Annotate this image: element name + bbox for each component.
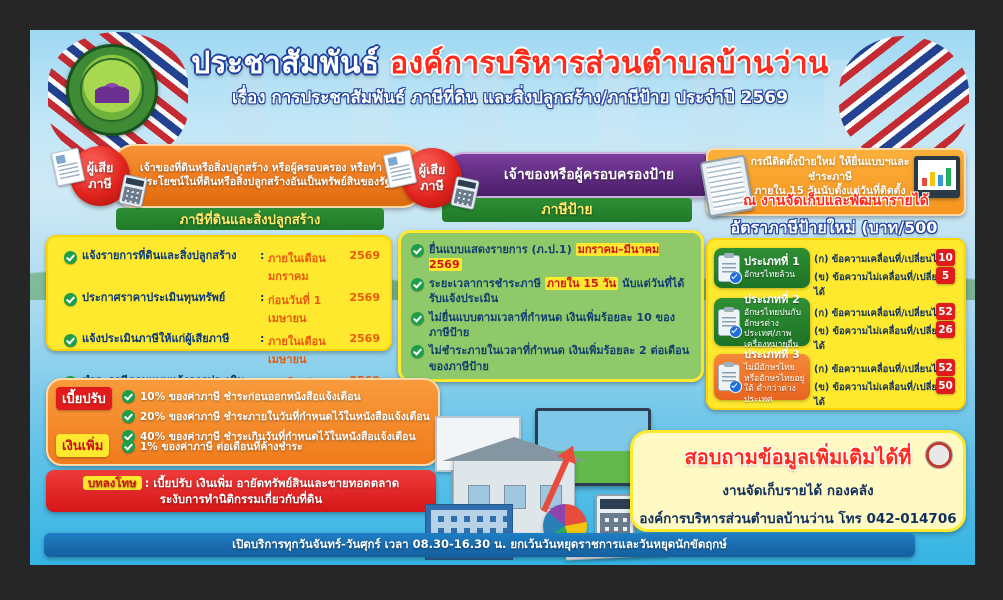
sign-rule-row: ยื่นแบบแสดงรายการ (ภ.ป.1) มกราคม–มีนาคม … [411,242,693,273]
penalty-fine-item: 10% ของค่าภาษี ชำระก่อนออกหนังสือแจ้งเตื… [140,388,361,405]
document-icon [383,149,417,188]
check-icon [411,345,424,358]
sanction-tag: บทลงโทษ [83,476,142,490]
check-icon [411,312,424,325]
new-sign-note-line1: กรณีติดตั้งป้ายใหม่ ให้ยื่นแบบฯและชำระภา… [742,155,918,184]
clipboard-check-icon [718,309,740,336]
sign-rule-highlight: ภายใน 15 วัน [545,277,618,290]
schedule-item-when: ภายในเดือน เมษายน [268,332,349,368]
chart-bars-icon [922,166,956,186]
check-badge-icon [729,325,742,338]
logo-inner-ring [80,58,144,122]
land-taxpayer-description: เจ้าของที่ดินหรือสิ่งปลูกสร้าง หรือผู้คร… [140,162,414,189]
logo-motif-icon [95,77,129,103]
sign-type-1-sub: อักษรไทยล้วน [744,270,795,280]
sign-type-2-row-a-value: 52 [936,303,955,320]
land-tax-category-bar: ภาษีที่ดินและสิ่งปลูกสร้าง [116,208,384,230]
contact-box: สอบถามข้อมูลเพิ่มเติมได้ที่ งานจัดเก็บรา… [630,430,966,532]
penalty-row: 1% ของค่าภาษี ต่อเดือนที่ค้างชำระ [122,438,430,455]
header-block: ประชาสัมพันธ์ องค์การบริหารส่วนตำบลบ้านว… [160,48,860,111]
service-hours-text: เปิดบริการทุกวันจันทร์-วันศุกร์ เวลา 08.… [232,536,727,554]
organization-logo [66,44,158,136]
poster-canvas: ประชาสัมพันธ์ องค์การบริหารส่วนตำบลบ้านว… [30,30,975,565]
land-tax-schedule-panel: แจ้งรายการที่ดินและสิ่งปลูกสร้าง : ภายใน… [46,235,392,351]
schedule-row: แจ้งประเมินภาษีให้แก่ผู้เสียภาษี : ภายใน… [64,332,380,368]
check-icon [122,440,135,453]
schedule-item-name: แจ้งรายการที่ดินและสิ่งปลูกสร้าง [82,249,260,264]
sign-type-3-card: ประเภทที่ 3 ไม่มีอักษรไทย หรืออักษรไทยอย… [714,354,810,400]
service-hours-bar: เปิดบริการทุกวันจันทร์-วันศุกร์ เวลา 08.… [44,533,915,557]
check-icon [411,244,424,257]
sign-rule-row: ไม่ชำระภายในเวลาที่กำหนด เงินเพิ่มร้อยละ… [411,343,693,374]
sign-tax-rules-list: ยื่นแบบแสดงรายการ (ภ.ป.1) มกราคม–มีนาคม … [411,242,693,377]
sign-taxpayer-badge: ผู้เสีย ภาษี [402,148,462,208]
check-icon [122,410,135,423]
check-badge-icon [729,380,742,393]
page-title-blue: ประชาสัมพันธ์ [191,46,390,81]
sign-badge-line1: ผู้เสีย [419,162,446,178]
penalty-row: 10% ของค่าภาษี ชำระก่อนออกหนังสือแจ้งเตื… [122,388,430,405]
sign-type-1-text: ประเภทที่ 1 อักษรไทยล้วน [744,255,800,280]
contact-heading: สอบถามข้อมูลเพิ่มเติมได้ที่ [633,441,963,473]
official-seal-icon [925,441,953,469]
schedule-item-year: 2569 [349,249,380,262]
schedule-row: แจ้งรายการที่ดินและสิ่งปลูกสร้าง : ภายใน… [64,249,380,285]
sign-rule-text: ไม่ยื่นแบบตามเวลาที่กำหนด เงินเพิ่มร้อยล… [429,310,693,341]
sign-type-3-text: ประเภทที่ 3 ไม่มีอักษรไทย หรืออักษรไทยอย… [744,348,810,405]
sign-rule-pre: ยื่นแบบแสดงรายการ (ภ.ป.1) [429,243,576,256]
sign-type-1-row-b-value: 5 [936,267,955,284]
sign-badge-line2: ภาษี [420,178,444,194]
sign-rule-row: ระยะเวลาการชำระภาษี ภายใน 15 วัน นับแต่ว… [411,276,693,307]
schedule-item-year: 2569 [349,291,380,304]
page-title: ประชาสัมพันธ์ องค์การบริหารส่วนตำบลบ้านว… [160,48,860,80]
penalty-surcharge-tag: เงินเพิ่ม [56,434,109,457]
sign-type-2-sub: อักษรไทยปนกับ อักษรต่างประเทศ/ภาพ เครื่อ… [744,308,801,350]
check-icon [122,390,135,403]
schedule-colon: : [260,291,268,304]
contact-line2: องค์การบริหารส่วนตำบลบ้านว่าน โทร 042-01… [633,507,963,529]
sign-type-1-heading: ประเภทที่ 1 [744,255,800,269]
sign-tax-rules-panel: ยื่นแบบแสดงรายการ (ภ.ป.1) มกราคม–มีนาคม … [398,230,704,382]
penalty-fine-tag: เบี้ยปรับ [56,387,112,410]
sign-rule-text: ไม่ชำระภายในเวลาที่กำหนด เงินเพิ่มร้อยละ… [429,343,693,374]
billboard-icon [435,416,521,472]
sign-type-3-row-b-value: 50 [936,377,955,394]
sign-type-2-heading: ประเภทที่ 2 [744,293,810,307]
check-icon [64,334,77,347]
penalty-fine-item: 20% ของค่าภาษี ชำระภายในวันที่กำหนดไว้ใน… [140,408,430,425]
sign-rule-row: ไม่ยื่นแบบตามเวลาที่กำหนด เงินเพิ่มร้อยล… [411,310,693,341]
clipboard-check-icon [718,364,740,391]
sanction-bar: บทลงโทษ: เบี้ยปรับ เงินเพิ่ม อายัดทรัพย์… [46,470,436,512]
land-taxpayer-badge: ผู้เสีย ภาษี [70,146,130,206]
land-taxpayer-description-pill: เจ้าของที่ดินหรือสิ่งปลูกสร้าง หรือผู้คร… [112,144,424,208]
schedule-item-when: ก่อนวันที่ 1 เมษายน [268,291,349,327]
check-icon [64,251,77,264]
penalty-surcharge-item: 1% ของค่าภาษี ต่อเดือนที่ค้างชำระ [140,438,303,455]
page-title-red: องค์การบริหารส่วนตำบลบ้านว่าน [390,46,829,81]
sign-type-1-row-a-value: 10 [936,249,955,266]
sign-rule-text: ยื่นแบบแสดงรายการ (ภ.ป.1) มกราคม–มีนาคม … [429,242,693,273]
sign-tax-category-bar: ภาษีป้าย [442,198,692,222]
sign-type-3-row-a-label: (ก) ข้อความเคลื่อนที่/เปลี่ยนได้ [814,362,943,377]
schedule-item-when: ภายในเดือน มกราคม [268,249,349,285]
land-badge-line2: ภาษี [88,176,112,192]
sign-type-2-row-a-label: (ก) ข้อความเคลื่อนที่/เปลี่ยนได้ [814,306,943,321]
schedule-colon: : [260,332,268,345]
schedule-item-name: แจ้งประเมินภาษีให้แก่ผู้เสียภาษี [82,332,260,347]
page-subtitle: เรื่อง การประชาสัมพันธ์ ภาษีที่ดิน และสิ… [160,84,860,111]
sign-type-3-sub: ไม่มีอักษรไทย หรืออักษรไทยอยู่ใต้ ต่ำกว่… [744,363,805,405]
sign-type-2-row-b-value: 26 [936,321,955,338]
sign-type-2-card: ประเภทที่ 2 อักษรไทยปนกับ อักษรต่างประเท… [714,298,810,346]
schedule-row: ประกาศราคาประเมินทุนทรัพย์ : ก่อนวันที่ … [64,291,380,327]
sign-rule-pre: ระยะเวลาการชำระภาษี [429,277,545,290]
sanction-text1: : เบี้ยปรับ เงินเพิ่ม อายัดทรัพย์สินและข… [145,476,399,490]
sign-taxpayer-description-pill: เจ้าของหรือผู้ครอบครองป้าย [442,152,724,198]
check-icon [64,293,77,306]
contact-line1: งานจัดเก็บรายได้ กองคลัง [633,479,963,501]
penalty-panel: เบี้ยปรับ 10% ของค่าภาษี ชำระก่อนออกหนัง… [46,378,440,466]
check-icon [411,278,424,291]
schedule-colon: : [260,249,268,262]
house-icon [453,458,575,536]
sign-type-3-heading: ประเภทที่ 3 [744,348,810,362]
check-badge-icon [729,271,742,284]
schedule-item-name: ประกาศราคาประเมินทุนทรัพย์ [82,291,260,306]
sign-type-3-row-a-value: 52 [936,359,955,376]
sanction-line2: ระงับการทำนิติกรรมเกี่ยวกับที่ดิน [56,491,426,507]
penalty-row: 20% ของค่าภาษี ชำระภายในวันที่กำหนดไว้ใน… [122,408,430,425]
sign-type-2-text: ประเภทที่ 2 อักษรไทยปนกับ อักษรต่างประเท… [744,293,810,350]
growth-arrow-icon [541,455,571,512]
clipboard-check-icon [718,255,740,282]
sign-type-1-card: ประเภทที่ 1 อักษรไทยล้วน [714,248,810,288]
land-badge-line1: ผู้เสีย [87,160,114,176]
sign-rule-text: ระยะเวลาการชำระภาษี ภายใน 15 วัน นับแต่ว… [429,276,693,307]
sign-type-1-row-a-label: (ก) ข้อความเคลื่อนที่/เปลี่ยนได้ [814,252,943,267]
sanction-line1: บทลงโทษ: เบี้ยปรับ เงินเพิ่ม อายัดทรัพย์… [56,475,426,491]
new-sign-note-box: กรณีติดตั้งป้ายใหม่ ให้ยื่นแบบฯและชำระภา… [706,148,966,216]
schedule-item-year: 2569 [349,332,380,345]
sign-taxpayer-description: เจ้าของหรือผู้ครอบครองป้าย [504,166,674,184]
new-sign-note-line3: ณ งานจัดเก็บและพัฒนารายได้ [718,190,954,212]
document-icon [51,147,85,186]
sign-rate-table-panel: ประเภทที่ 1 อักษรไทยล้วน (ก) ข้อความเคลื… [706,238,966,410]
